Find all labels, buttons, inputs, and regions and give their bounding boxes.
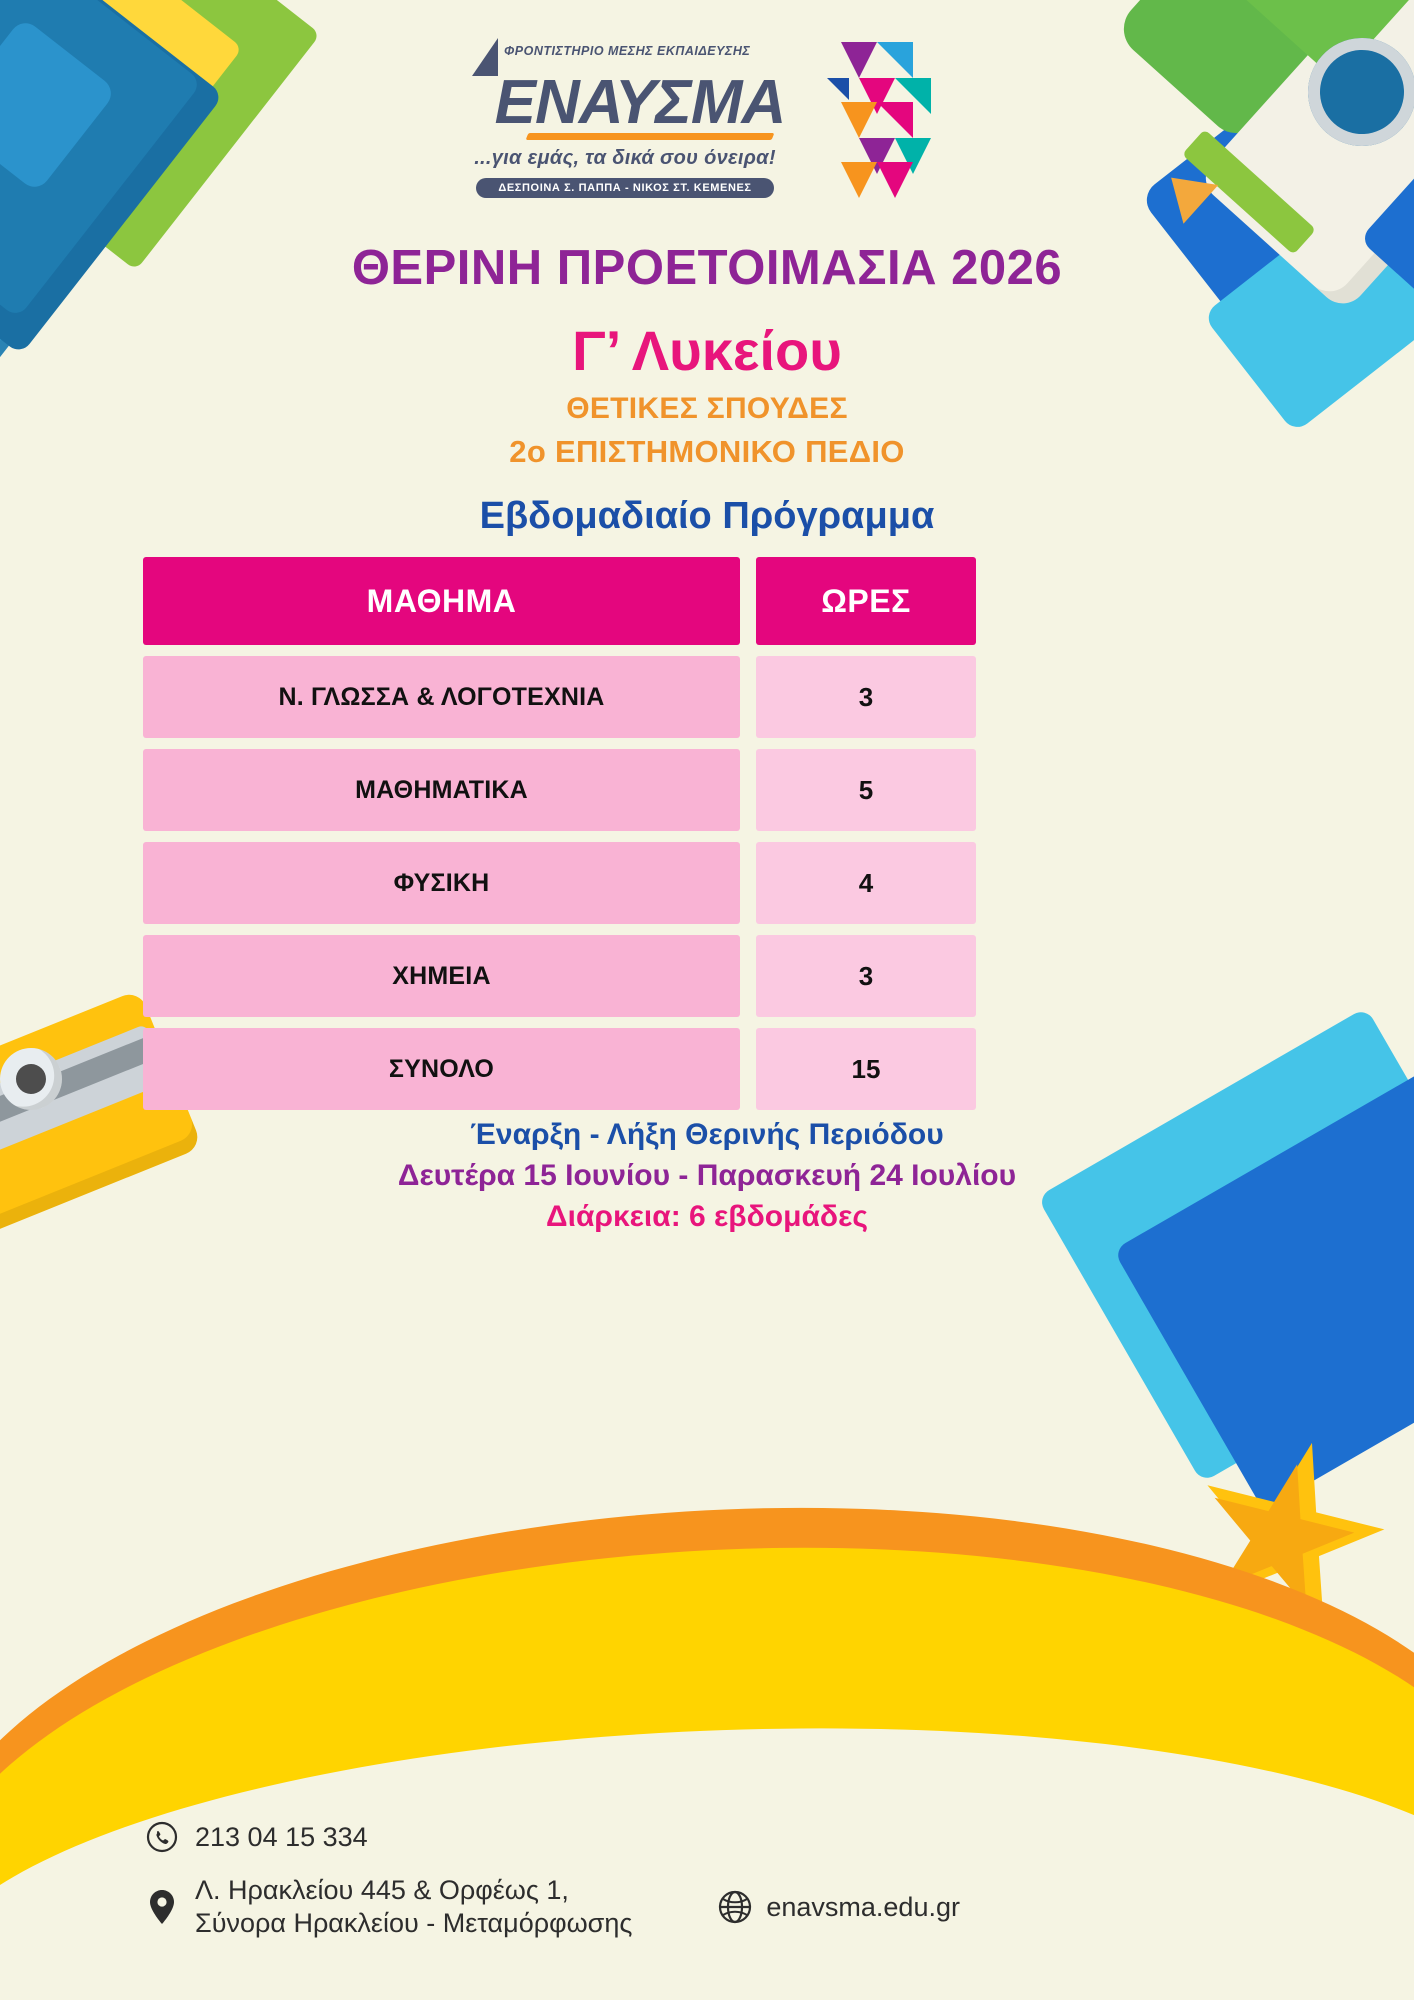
cell-hours: 3 xyxy=(756,935,976,1017)
period-range: Δευτέρα 15 Ιουνίου - Παρασκευή 24 Ιουλίο… xyxy=(0,1159,1414,1193)
location-pin-icon xyxy=(145,1890,179,1924)
logo-owners-credit: ΔΕΣΠΟΙΝΑ Σ. ΠΑΠΠΑ - ΝΙΚΟΣ ΣΤ. ΚΕΜΕΝΕΣ xyxy=(476,178,773,198)
table-row: Ν. ΓΛΩΣΣΑ & ΛΟΓΟΤΕΧΝΙΑ 3 xyxy=(143,656,1271,738)
column-header-subject-label: ΜΑΘΗΜΑ xyxy=(367,583,517,620)
subject-label: Ν. ΓΛΩΣΣΑ & ΛΟΓΟΤΕΧΝΙΑ xyxy=(278,683,604,712)
contact-phone-row[interactable]: 213 04 15 334 xyxy=(145,1820,1295,1854)
column-header-subject: ΜΑΘΗΜΑ xyxy=(143,557,740,645)
logo-underline xyxy=(526,133,775,140)
period-duration: Διάρκεια: 6 εβδομάδες xyxy=(0,1200,1414,1234)
phone-number: 213 04 15 334 xyxy=(195,1821,368,1854)
hours-value: 4 xyxy=(859,868,873,899)
track-line-1: ΘΕΤΙΚΕΣ ΣΠΟΥΔΕΣ xyxy=(0,392,1414,426)
table-row-total: ΣΥΝΟΛΟ 15 xyxy=(143,1028,1271,1110)
logo-tagline: ...για εμάς, τα δικά σου όνειρα! xyxy=(474,147,776,170)
cell-hours: 15 xyxy=(756,1028,976,1110)
contact-footer: 213 04 15 334 Λ. Ηρακλείου 445 & Ορφέως … xyxy=(145,1820,1295,1940)
contact-address-block[interactable]: Λ. Ηρακλείου 445 & Ορφέως 1, Σύνορα Ηρακ… xyxy=(145,1874,632,1940)
logo-text-group: ΦΡΟΝΤΙΣΤΗΡΙΟ ΜΕΣΗΣ ΕΚΠΑΙΔΕΥΣΗΣ ΕΝΑΥΣΜΑ .… xyxy=(465,38,785,198)
address-text: Λ. Ηρακλείου 445 & Ορφέως 1, Σύνορα Ηρακ… xyxy=(195,1874,632,1940)
cell-hours: 5 xyxy=(756,749,976,831)
subject-label: ΧΗΜΕΙΑ xyxy=(392,962,490,991)
column-header-hours: ΩΡΕΣ xyxy=(756,557,976,645)
subject-label: ΦΥΣΙΚΗ xyxy=(394,869,490,898)
period-heading: Έναρξη - Λήξη Θερινής Περιόδου xyxy=(0,1118,1414,1152)
hours-value: 3 xyxy=(859,961,873,992)
globe-icon xyxy=(718,1890,752,1924)
table-row: ΦΥΣΙΚΗ 4 xyxy=(143,842,1271,924)
decoration-star-outer xyxy=(1174,1420,1404,1650)
contact-address-web-row: Λ. Ηρακλείου 445 & Ορφέως 1, Σύνορα Ηρακ… xyxy=(145,1874,1295,1940)
address-line-2: Σύνορα Ηρακλείου - Μεταμόρφωσης xyxy=(195,1907,632,1940)
phone-icon xyxy=(145,1820,179,1854)
website-url: enavsma.edu.gr xyxy=(766,1891,960,1924)
decoration-star-inner xyxy=(1188,1446,1370,1628)
table-row: ΧΗΜΕΙΑ 3 xyxy=(143,935,1271,1017)
tangram-icon xyxy=(799,42,949,207)
poster-canvas: ΦΡΟΝΤΙΣΤΗΡΙΟ ΜΕΣΗΣ ΕΚΠΑΙΔΕΥΣΗΣ ΕΝΑΥΣΜΑ .… xyxy=(0,0,1414,2000)
table-header-row: ΜΑΘΗΜΑ ΩΡΕΣ xyxy=(143,557,1271,645)
cell-subject: ΦΥΣΙΚΗ xyxy=(143,842,740,924)
grade-heading: Γ’ Λυκείου xyxy=(0,318,1414,383)
program-heading: Εβδομαδιαίο Πρόγραμμα xyxy=(0,495,1414,538)
cell-hours: 4 xyxy=(756,842,976,924)
logo-wordmark: ΕΝΑΥΣΜΑ xyxy=(495,76,786,129)
hours-value: 15 xyxy=(852,1054,881,1085)
page-title: ΘΕΡΙΝΗ ΠΡΟΕΤΟΙΜΑΣΙΑ 2026 xyxy=(0,240,1414,296)
cell-subject: ΣΥΝΟΛΟ xyxy=(143,1028,740,1110)
track-line-2: 2ο ΕΠΙΣΤΗΜΟΝΙΚΟ ΠΕΔΙΟ xyxy=(0,434,1414,470)
brand-logo: ΦΡΟΝΤΙΣΤΗΡΙΟ ΜΕΣΗΣ ΕΚΠΑΙΔΕΥΣΗΣ ΕΝΑΥΣΜΑ .… xyxy=(0,38,1414,207)
cell-subject: Ν. ΓΛΩΣΣΑ & ΛΟΓΟΤΕΧΝΙΑ xyxy=(143,656,740,738)
cell-hours: 3 xyxy=(756,656,976,738)
subject-label: ΜΑΘΗΜΑΤΙΚΑ xyxy=(355,776,528,805)
table-row: ΜΑΘΗΜΑΤΙΚΑ 5 xyxy=(143,749,1271,831)
column-header-hours-label: ΩΡΕΣ xyxy=(821,583,911,620)
logo-org-subtitle: ΦΡΟΝΤΙΣΤΗΡΙΟ ΜΕΣΗΣ ΕΚΠΑΙΔΕΥΣΗΣ xyxy=(504,44,750,58)
address-line-1: Λ. Ηρακλείου 445 & Ορφέως 1, xyxy=(195,1874,632,1907)
cell-subject: ΜΑΘΗΜΑΤΙΚΑ xyxy=(143,749,740,831)
cell-subject: ΧΗΜΕΙΑ xyxy=(143,935,740,1017)
period-info: Έναρξη - Λήξη Θερινής Περιόδου Δευτέρα 1… xyxy=(0,1118,1414,1234)
contact-website-block[interactable]: enavsma.edu.gr xyxy=(718,1890,960,1924)
weekly-schedule-table: ΜΑΘΗΜΑ ΩΡΕΣ Ν. ΓΛΩΣΣΑ & ΛΟΓΟΤΕΧΝΙΑ 3 ΜΑΘ… xyxy=(143,557,1271,1121)
hours-value: 5 xyxy=(859,775,873,806)
subject-label: ΣΥΝΟΛΟ xyxy=(389,1055,494,1084)
hours-value: 3 xyxy=(859,682,873,713)
